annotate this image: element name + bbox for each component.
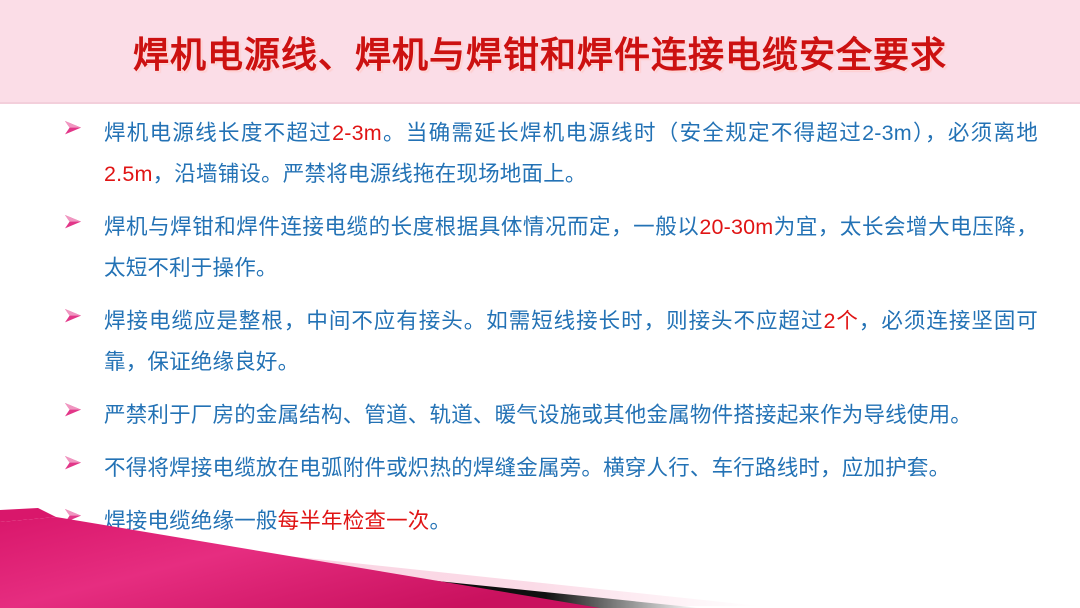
bullet-item: 焊接电缆绝缘一般每半年检查一次。 xyxy=(0,501,1080,542)
bullet-text: 不得将焊接电缆放在电弧附件或炽热的焊缝金属旁。横穿人行、车行路线时，应加护套。 xyxy=(104,448,1080,489)
bullet-list: 焊机电源线长度不超过2-3m。当确需延长焊机电源线时（安全规定不得超过2-3m）… xyxy=(0,113,1080,554)
bullet-highlight-run: 2个 xyxy=(823,309,858,333)
arrow-right-bullet-icon xyxy=(62,305,84,327)
bullet-text: 焊接电缆绝缘一般每半年检查一次。 xyxy=(104,501,1080,542)
arrow-right-bullet-icon xyxy=(62,211,84,233)
bullet-item: 严禁利于厂房的金属结构、管道、轨道、暖气设施或其他金属物件搭接起来作为导线使用。 xyxy=(0,395,1080,436)
bullet-text: 焊机与焊钳和焊件连接电缆的长度根据具体情况而定，一般以20-30m为宜，太长会增… xyxy=(104,207,1080,289)
bullet-highlight-run: 每半年检查一次 xyxy=(278,509,430,533)
bullet-item: 不得将焊接电缆放在电弧附件或炽热的焊缝金属旁。横穿人行、车行路线时，应加护套。 xyxy=(0,448,1080,489)
bullet-item: 焊机与焊钳和焊件连接电缆的长度根据具体情况而定，一般以20-30m为宜，太长会增… xyxy=(0,207,1080,289)
bullet-highlight-run: 2-3m xyxy=(332,121,382,145)
bullet-run: 。当确需延长焊机电源线时（安全规定不得超过2-3m），必须离地 xyxy=(382,121,1038,145)
bullet-highlight-run: 2.5m xyxy=(104,162,153,186)
arrow-right-bullet-icon xyxy=(62,505,84,527)
title-banner: 焊机电源线、焊机与焊钳和焊件连接电缆安全要求 xyxy=(0,0,1080,104)
bullet-run: 不得将焊接电缆放在电弧附件或炽热的焊缝金属旁。横穿人行、车行路线时，应加护套。 xyxy=(104,456,950,480)
slide-canvas: 焊机电源线、焊机与焊钳和焊件连接电缆安全要求 焊机电源线长度不超过2-3m。当确… xyxy=(0,0,1080,608)
bullet-text: 焊接电缆应是整根，中间不应有接头。如需短线接长时，则接头不应超过2个，必须连接坚… xyxy=(104,301,1080,383)
arrow-right-bullet-icon xyxy=(62,117,84,139)
page-title: 焊机电源线、焊机与焊钳和焊件连接电缆安全要求 xyxy=(0,26,1080,78)
bullet-run: 焊接电缆应是整根，中间不应有接头。如需短线接长时，则接头不应超过 xyxy=(104,309,823,333)
bullet-item: 焊机电源线长度不超过2-3m。当确需延长焊机电源线时（安全规定不得超过2-3m）… xyxy=(0,113,1080,195)
bullet-text: 严禁利于厂房的金属结构、管道、轨道、暖气设施或其他金属物件搭接起来作为导线使用。 xyxy=(104,395,1080,436)
bullet-run: 焊机电源线长度不超过 xyxy=(104,121,332,145)
bullet-run: 严禁利于厂房的金属结构、管道、轨道、暖气设施或其他金属物件搭接起来作为导线使用。 xyxy=(104,403,972,427)
arrow-right-bullet-icon xyxy=(62,399,84,421)
bullet-highlight-run: 20-30m xyxy=(699,215,773,239)
bullet-run: 。 xyxy=(430,509,452,533)
bullet-item: 焊接电缆应是整根，中间不应有接头。如需短线接长时，则接头不应超过2个，必须连接坚… xyxy=(0,301,1080,383)
bullet-run: 焊机与焊钳和焊件连接电缆的长度根据具体情况而定，一般以 xyxy=(104,215,699,239)
bullet-run: 焊接电缆绝缘一般 xyxy=(104,509,278,533)
bullet-run: ，沿墙铺设。严禁将电源线拖在现场地面上。 xyxy=(153,162,587,186)
bullet-text: 焊机电源线长度不超过2-3m。当确需延长焊机电源线时（安全规定不得超过2-3m）… xyxy=(104,113,1080,195)
arrow-right-bullet-icon xyxy=(62,452,84,474)
